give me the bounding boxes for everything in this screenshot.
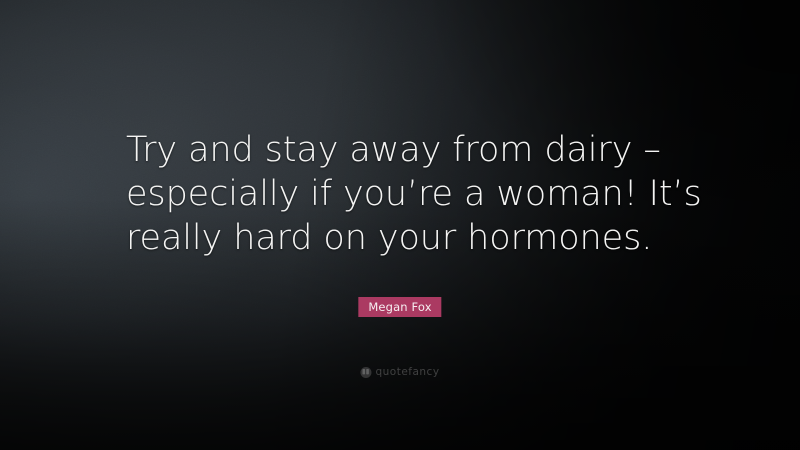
quote-line-3: really hard on your hormones. bbox=[126, 216, 706, 260]
watermark-brand-label: quotefancy bbox=[375, 366, 439, 378]
quote-line-2: especially if you’re a woman! It’s bbox=[126, 172, 706, 216]
quotefancy-watermark[interactable]: quotefancy bbox=[360, 366, 439, 378]
author-name-badge[interactable]: Megan Fox bbox=[358, 297, 441, 317]
quote-line-1: Try and stay away from dairy – bbox=[126, 128, 706, 172]
quote-mark-icon bbox=[360, 367, 371, 378]
quote-image-canvas: Try and stay away from dairy – especiall… bbox=[0, 0, 800, 450]
quote-text-block: Try and stay away from dairy – especiall… bbox=[126, 128, 706, 260]
